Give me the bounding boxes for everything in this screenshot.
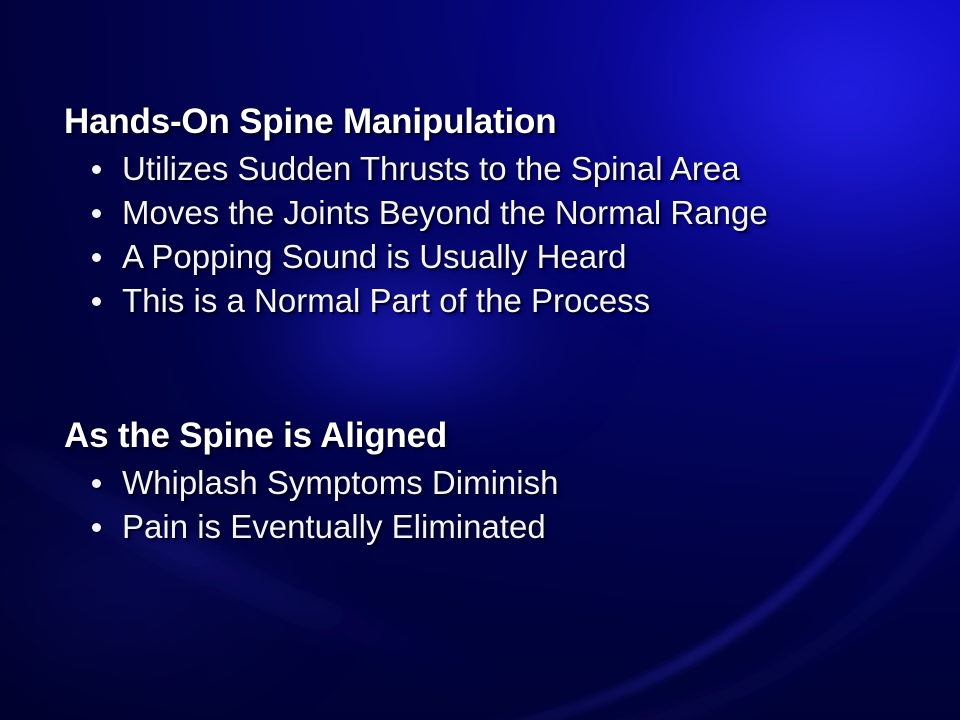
bullet-dot-icon bbox=[92, 209, 101, 218]
list-item-label: Moves the Joints Beyond the Normal Range bbox=[122, 194, 768, 231]
list-item-label: Whiplash Symptoms Diminish bbox=[122, 464, 558, 501]
bullet-dot-icon bbox=[92, 479, 101, 488]
bullet-dot-icon bbox=[92, 253, 101, 262]
bullet-dot-icon bbox=[92, 165, 101, 174]
list-item-label: A Popping Sound is Usually Heard bbox=[122, 238, 626, 275]
slide-section-2: As the Spine is Aligned Whiplash Symptom… bbox=[64, 418, 558, 549]
list-item-label: Pain is Eventually Eliminated bbox=[122, 508, 546, 545]
list-item-label: Utilizes Sudden Thrusts to the Spinal Ar… bbox=[122, 150, 740, 187]
slide-section-1: Hands-On Spine Manipulation Utilizes Sud… bbox=[64, 104, 768, 323]
section-1-bullet-list: Utilizes Sudden Thrusts to the Spinal Ar… bbox=[64, 147, 768, 323]
list-item: Moves the Joints Beyond the Normal Range bbox=[64, 191, 768, 235]
list-item: This is a Normal Part of the Process bbox=[64, 279, 768, 323]
section-1-heading: Hands-On Spine Manipulation bbox=[64, 104, 768, 139]
slide-content: Hands-On Spine Manipulation Utilizes Sud… bbox=[0, 0, 960, 720]
list-item: Pain is Eventually Eliminated bbox=[64, 505, 558, 549]
list-item-label: This is a Normal Part of the Process bbox=[122, 282, 650, 319]
presentation-slide: Hands-On Spine Manipulation Utilizes Sud… bbox=[0, 0, 960, 720]
section-2-heading: As the Spine is Aligned bbox=[64, 418, 558, 453]
section-2-bullet-list: Whiplash Symptoms Diminish Pain is Event… bbox=[64, 461, 558, 549]
list-item: Utilizes Sudden Thrusts to the Spinal Ar… bbox=[64, 147, 768, 191]
bullet-dot-icon bbox=[92, 523, 101, 532]
bullet-dot-icon bbox=[92, 297, 101, 306]
list-item: Whiplash Symptoms Diminish bbox=[64, 461, 558, 505]
list-item: A Popping Sound is Usually Heard bbox=[64, 235, 768, 279]
